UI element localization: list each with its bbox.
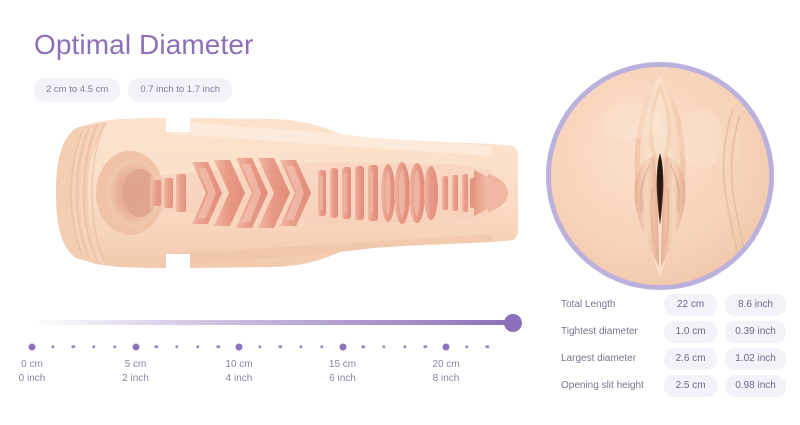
ruler-label-inch: 0 inch [19,372,46,386]
orifice-photo [551,67,769,285]
measurement-badge-row: 2 cm to 4.5 cm 0.7 inch to 1.7 inch [34,78,232,102]
ruler-tick-minor [217,345,220,348]
ruler-label: 20 cm8 inch [432,358,459,385]
ruler-tick-minor [72,345,75,348]
table-row: Tightest diameter1.0 cm0.39 inch [561,318,786,345]
ruler-label: 10 cm4 inch [225,358,252,385]
page-title: Optimal Diameter [34,28,253,62]
table-row: Total Length22 cm8.6 inch [561,291,786,318]
spec-label: Tightest diameter [561,325,664,339]
spec-label: Total Length [561,298,664,312]
ruler-label-inch: 4 inch [225,372,252,386]
ruler-tick-minor [196,345,199,348]
spec-value-cm: 2.6 cm [664,348,717,370]
ruler-tick-major [29,344,36,351]
spec-value-inch: 0.98 inch [725,375,786,397]
product-detail-card: Optimal Diameter 2 cm to 4.5 cm 0.7 inch… [0,0,800,425]
spec-value-inch: 8.6 inch [725,294,786,316]
ruler-labels: 0 cm0 inch5 cm2 inch10 cm4 inch15 cm6 in… [22,358,542,388]
ruler-label: 0 cm0 inch [19,358,46,385]
table-row: Opening slit height2.5 cm0.98 inch [561,372,786,399]
ruler-ticks [22,338,522,356]
ruler-label-cm: 5 cm [122,358,149,372]
ruler-label: 5 cm2 inch [122,358,149,385]
spec-value-cm: 1.0 cm [664,321,717,343]
spec-value-inch: 1.02 inch [725,348,786,370]
ruler-tick-major [443,344,450,351]
ruler-tick-minor [113,345,116,348]
ruler-tick-minor [258,345,261,348]
badge-imperial-range: 0.7 inch to 1.7 inch [128,78,232,102]
badge-metric-range: 2 cm to 4.5 cm [34,78,120,102]
ruler-tick-minor [51,345,54,348]
length-slider[interactable] [30,314,522,332]
ruler-tick-minor [424,345,427,348]
ruler-label-cm: 15 cm [329,358,356,372]
ruler-tick-minor [320,345,323,348]
slider-track[interactable] [30,320,513,325]
table-row: Largest diameter2.6 cm1.02 inch [561,345,786,372]
ruler-tick-major [132,344,139,351]
ruler-tick-minor [92,345,95,348]
ruler-tick-minor [486,345,489,348]
ruler-tick-minor [154,345,157,348]
spec-label: Largest diameter [561,352,664,366]
ruler-label: 15 cm6 inch [329,358,356,385]
ruler-label-inch: 2 inch [122,372,149,386]
spec-value-cm: 2.5 cm [664,375,717,397]
ruler-tick-minor [361,345,364,348]
spec-value-cm: 22 cm [664,294,717,316]
ruler-label-inch: 8 inch [432,372,459,386]
ruler-tick-minor [175,345,178,348]
ruler-tick-major [339,344,346,351]
spec-label: Opening slit height [561,379,664,393]
sleeve-internal-texture [150,158,508,228]
slider-knob[interactable] [504,314,522,332]
ruler-tick-minor [279,345,282,348]
ruler-label-cm: 20 cm [432,358,459,372]
ruler-label-cm: 0 cm [19,358,46,372]
ruler-tick-minor [382,345,385,348]
ruler-tick-major [236,344,243,351]
spec-value-inch: 0.39 inch [725,321,786,343]
ruler-label-cm: 10 cm [225,358,252,372]
specification-table: Total Length22 cm8.6 inchTightest diamet… [561,291,786,399]
orifice-photo-ring [546,62,774,290]
ruler-label-inch: 6 inch [329,372,356,386]
product-cutaway-illustration [22,108,542,278]
ruler-tick-minor [465,345,468,348]
ruler-tick-minor [403,345,406,348]
ruler-tick-minor [299,345,302,348]
